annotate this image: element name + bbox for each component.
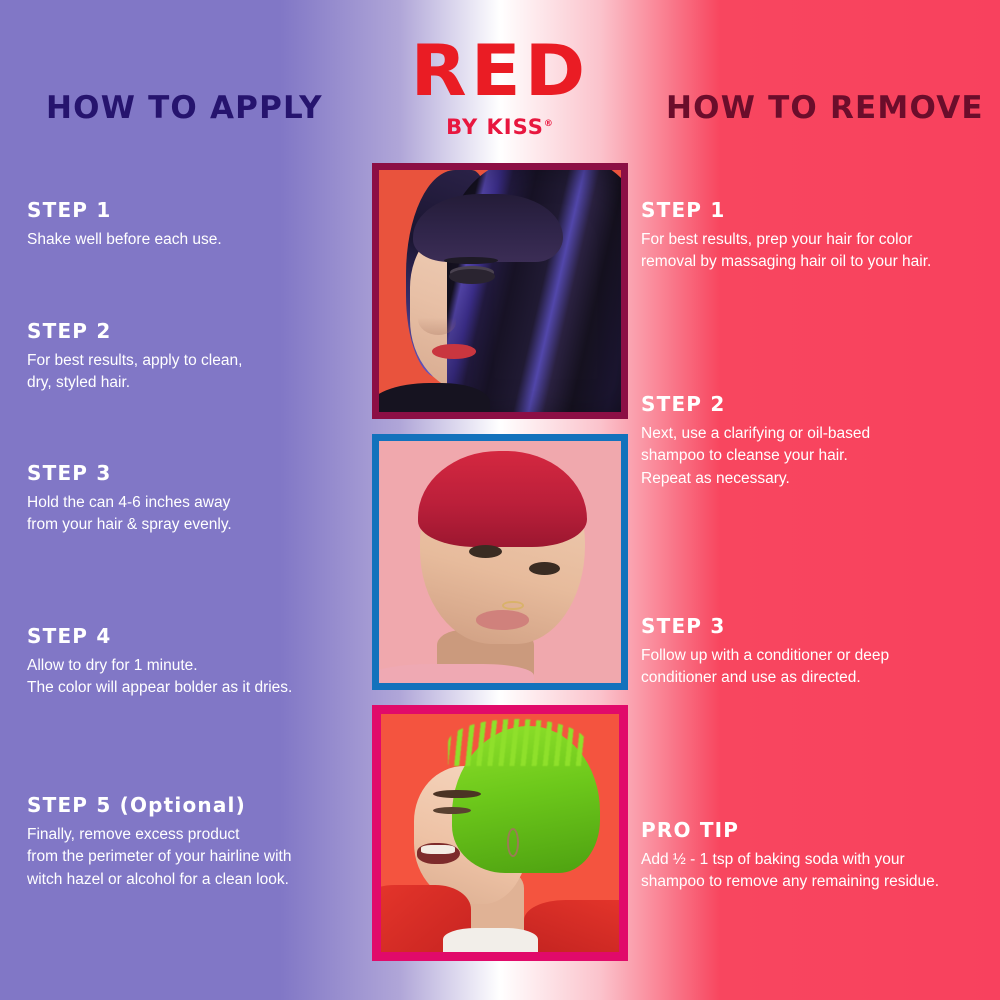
how-to-apply-heading: HOW TO APPLY bbox=[46, 90, 323, 126]
apply-step-3: STEP 3 Hold the can 4-6 inches away from… bbox=[27, 461, 357, 537]
remove-step-3: STEP 3 Follow up with a conditioner or d… bbox=[641, 614, 991, 690]
apply-step-2-title: STEP 2 bbox=[27, 319, 357, 343]
photo-model-blue-streak-hair bbox=[372, 163, 628, 419]
photo1-eye bbox=[449, 269, 495, 284]
remove-step-1-body: For best results, prep your hair for col… bbox=[641, 229, 991, 274]
photo2-lips bbox=[476, 610, 529, 629]
photo3-hair-spikes bbox=[448, 719, 586, 767]
how-to-remove-heading: HOW TO REMOVE bbox=[666, 90, 984, 126]
remove-step-1: STEP 1 For best results, prep your hair … bbox=[641, 198, 991, 274]
photo3-eye bbox=[433, 807, 471, 814]
registered-mark-icon: ® bbox=[544, 119, 554, 129]
photo-column bbox=[372, 163, 628, 961]
pro-tip-body: Add ½ - 1 tsp of baking soda with your s… bbox=[641, 849, 991, 894]
remove-step-2-body: Next, use a clarifying or oil-based sham… bbox=[641, 423, 991, 490]
remove-step-1-title: STEP 1 bbox=[641, 198, 991, 222]
remove-step-2-title: STEP 2 bbox=[641, 392, 991, 416]
apply-step-4-body: Allow to dry for 1 minute. The color wil… bbox=[27, 655, 357, 700]
logo-tagline-text: BY KISS bbox=[446, 115, 544, 139]
apply-step-5-body: Finally, remove excess product from the … bbox=[27, 824, 357, 891]
apply-step-2: STEP 2 For best results, apply to clean,… bbox=[27, 319, 357, 395]
apply-step-5: STEP 5 (Optional) Finally, remove excess… bbox=[27, 793, 357, 891]
instruction-poster: RED BY KISS® HOW TO APPLY HOW TO REMOVE … bbox=[0, 0, 1000, 1000]
photo1-lips bbox=[432, 344, 476, 359]
pro-tip-title: PRO TIP bbox=[641, 818, 991, 842]
remove-step-3-body: Follow up with a conditioner or deep con… bbox=[641, 645, 991, 690]
pro-tip: PRO TIP Add ½ - 1 tsp of baking soda wit… bbox=[641, 818, 991, 894]
photo3-teeth bbox=[421, 845, 454, 855]
apply-step-3-body: Hold the can 4-6 inches away from your h… bbox=[27, 492, 357, 537]
photo-model-green-hair bbox=[372, 705, 628, 961]
apply-step-1-title: STEP 1 bbox=[27, 198, 357, 222]
photo3-jacket-right bbox=[524, 900, 619, 952]
apply-step-1: STEP 1 Shake well before each use. bbox=[27, 198, 357, 251]
photo3-tshirt bbox=[443, 928, 538, 952]
apply-step-5-title: STEP 5 (Optional) bbox=[27, 793, 357, 817]
photo1-nose bbox=[418, 306, 457, 335]
remove-step-2: STEP 2 Next, use a clarifying or oil-bas… bbox=[641, 392, 991, 490]
apply-step-1-body: Shake well before each use. bbox=[27, 229, 357, 251]
apply-step-3-title: STEP 3 bbox=[27, 461, 357, 485]
photo1-shoulder bbox=[379, 383, 490, 412]
photo-model-red-buzzcut bbox=[372, 434, 628, 690]
apply-step-4: STEP 4 Allow to dry for 1 minute. The co… bbox=[27, 624, 357, 700]
remove-step-3-title: STEP 3 bbox=[641, 614, 991, 638]
photo1-bangs bbox=[413, 194, 563, 262]
apply-step-2-body: For best results, apply to clean, dry, s… bbox=[27, 350, 357, 395]
photo3-earring bbox=[507, 828, 519, 857]
photo2-shirt bbox=[379, 664, 534, 683]
apply-step-4-title: STEP 4 bbox=[27, 624, 357, 648]
